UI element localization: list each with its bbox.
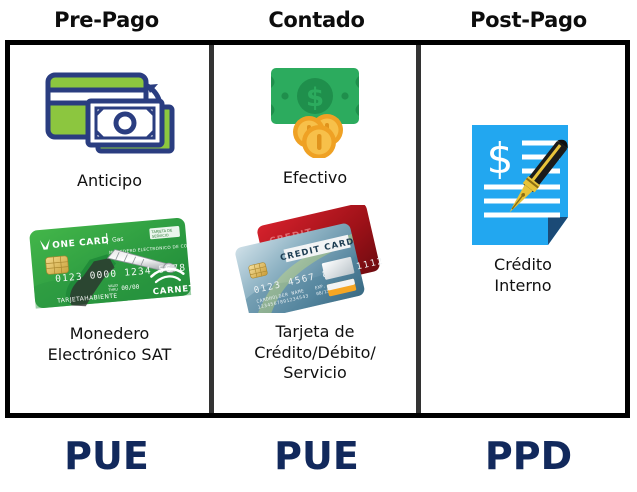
- footer-ppd-post-pago: PPD: [420, 420, 637, 492]
- label-monedero-line2: Electrónico SAT: [48, 345, 172, 366]
- label-monedero: Monedero Electrónico SAT: [48, 324, 172, 366]
- cell-monedero: ONE CARD Gas TARJETA DE SERVICIO MONEDER…: [10, 192, 209, 366]
- label-tarjeta-line2: Crédito/Débito/: [254, 343, 376, 364]
- credit-cards-icon: CREDIT CREDIT CARD 0123 45: [226, 205, 404, 313]
- header-contado: Contado: [213, 0, 420, 40]
- fuel-wallet-card-icon: ONE CARD Gas TARJETA DE SERVICIO MONEDER…: [24, 214, 196, 310]
- cell-efectivo: $ Efectivo: [214, 45, 416, 189]
- label-credito-line1: Crédito: [494, 255, 552, 276]
- label-tarjeta: Tarjeta de Crédito/Débito/ Servicio: [254, 322, 376, 384]
- cash-banknote-coins-icon: $: [265, 59, 365, 159]
- label-efectivo: Efectivo: [283, 168, 347, 189]
- column-contado: $ Efectivo: [214, 45, 421, 413]
- cell-tarjeta: CREDIT CREDIT CARD 0123 45: [214, 189, 416, 384]
- svg-text:$: $: [306, 83, 324, 113]
- footer-row: PUE PUE PPD: [0, 420, 637, 492]
- invoice-document-pen-icon: $: [464, 121, 582, 249]
- footer-pue-pre-pago: PUE: [0, 420, 213, 492]
- label-anticipo: Anticipo: [77, 171, 142, 192]
- footer-pue-contado: PUE: [213, 420, 420, 492]
- svg-text:Gas: Gas: [111, 236, 123, 244]
- header-pre-pago: Pre-Pago: [0, 0, 213, 40]
- label-tarjeta-line1: Tarjeta de: [254, 322, 376, 343]
- header-row: Pre-Pago Contado Post-Pago: [0, 0, 637, 40]
- label-monedero-line1: Monedero: [48, 324, 172, 345]
- column-pre-pago: Anticipo: [10, 45, 214, 413]
- svg-text:$: $: [487, 134, 514, 183]
- label-credito-interno: Crédito Interno: [494, 255, 552, 297]
- header-post-pago: Post-Pago: [420, 0, 637, 40]
- cell-anticipo: Anticipo: [10, 45, 209, 192]
- cell-credito-interno: $: [421, 45, 625, 297]
- label-credito-line2: Interno: [494, 276, 552, 297]
- column-post-pago: $: [421, 45, 625, 413]
- label-tarjeta-line3: Servicio: [254, 363, 376, 384]
- payment-methods-table: Anticipo: [5, 40, 630, 418]
- prepaid-card-cash-icon: [42, 61, 177, 161]
